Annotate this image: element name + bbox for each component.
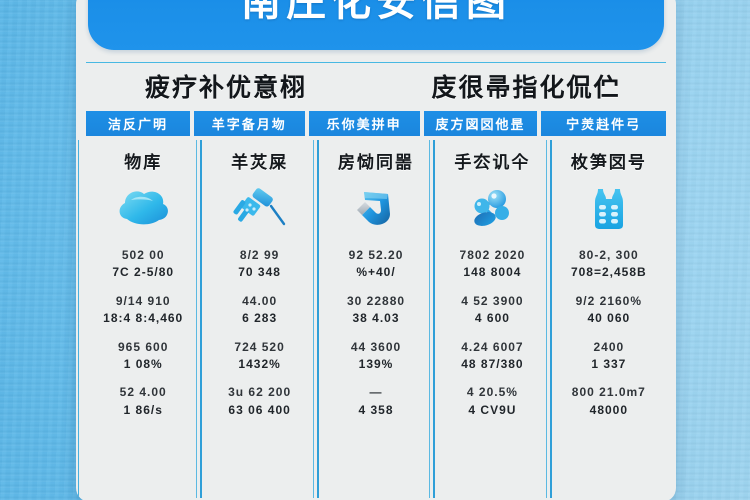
cloud-blob-icon bbox=[86, 179, 200, 237]
magnet-icon bbox=[319, 179, 433, 237]
data-row: 9/2 2160% 40 060 bbox=[552, 293, 666, 328]
row-line2: 708=2,458B bbox=[552, 264, 666, 281]
data-row: 80-2, 300 708=2,458B bbox=[552, 247, 666, 282]
tab-0[interactable]: 洁反广明 bbox=[86, 111, 190, 136]
tab-3[interactable]: 庋方図㘝他昰 bbox=[424, 111, 538, 136]
row-line1: 965 600 bbox=[86, 339, 200, 356]
column-3-heading: 手厺讥仐 bbox=[454, 148, 530, 173]
row-line2: 7C 2-5/80 bbox=[86, 264, 200, 281]
row-line1: 800 21.0m7 bbox=[552, 384, 666, 401]
column-2: 房恸同噐 bbox=[317, 140, 433, 498]
row-line2: 1 337 bbox=[552, 356, 666, 373]
row-line1: 52 4.00 bbox=[86, 384, 200, 401]
row-line2: 48 87/380 bbox=[435, 356, 549, 373]
data-row: 8/2 99 70 348 bbox=[202, 247, 316, 282]
row-line2: 70 348 bbox=[202, 264, 316, 281]
row-line1: 44.00 bbox=[202, 293, 316, 310]
column-1-rows: 8/2 99 70 348 44.00 6 283 724 520 1432% … bbox=[202, 247, 316, 430]
row-line1: 502 00 bbox=[86, 247, 200, 264]
section-title-right: 庋很帚指化侃伫 bbox=[376, 64, 676, 108]
content-columns: 物库 bbox=[86, 140, 666, 498]
data-row: 4 52 3900 4 600 bbox=[435, 293, 549, 328]
pill-blister-icon bbox=[552, 179, 666, 237]
data-row: 92 52.20 %+40/ bbox=[319, 247, 433, 282]
row-line1: 3u 62 200 bbox=[202, 384, 316, 401]
row-line2: 6 283 bbox=[202, 310, 316, 327]
data-row: 2400 1 337 bbox=[552, 339, 666, 374]
column-0-rows: 502 00 7C 2-5/80 9/14 910 18:4 8:4,460 9… bbox=[86, 247, 200, 430]
section-title-right-label: 庋很帚指化侃伫 bbox=[431, 68, 620, 104]
data-row: 965 600 1 08% bbox=[86, 339, 200, 374]
data-row: 3u 62 200 63 06 400 bbox=[202, 384, 316, 419]
data-row: 52 4.00 1 86/s bbox=[86, 384, 200, 419]
row-line1: 2400 bbox=[552, 339, 666, 356]
data-row: 800 21.0m7 48000 bbox=[552, 384, 666, 419]
syringe-icon bbox=[202, 179, 316, 237]
tab-2[interactable]: 乐你美拼申 bbox=[309, 111, 420, 136]
column-0-heading: 物库 bbox=[124, 148, 162, 173]
row-line1: 80-2, 300 bbox=[552, 247, 666, 264]
column-3-rows: 7802 2020 148 8004 4 52 3900 4 600 4.24 … bbox=[435, 247, 549, 430]
data-row: 30 22880 38 4.03 bbox=[319, 293, 433, 328]
molecule-icon bbox=[435, 179, 549, 237]
column-4-rows: 80-2, 300 708=2,458B 9/2 2160% 40 060 24… bbox=[552, 247, 666, 430]
section-title-left-label: 疲疗补优意栩 bbox=[145, 68, 307, 104]
tab-3-label: 庋方図㘝他昰 bbox=[435, 114, 525, 133]
section-title-row: 疲疗补优意栩 庋很帚指化侃伫 bbox=[76, 64, 676, 108]
row-line2: 139% bbox=[319, 356, 433, 373]
column-4: 枚笋㘝号 bbox=[550, 140, 666, 498]
row-line2: 148 8004 bbox=[435, 264, 549, 281]
row-line2: 1 86/s bbox=[86, 402, 200, 419]
row-line1: 30 22880 bbox=[319, 293, 433, 310]
row-line2: 18:4 8:4,460 bbox=[86, 310, 200, 327]
column-0: 物库 bbox=[86, 140, 200, 498]
column-1: 羊炗屎 bbox=[200, 140, 316, 498]
column-2-rows: 92 52.20 %+40/ 30 22880 38 4.03 44 3600 … bbox=[319, 247, 433, 430]
column-4-heading: 枚笋㘝号 bbox=[571, 148, 647, 173]
title-banner: 南庄化安信图 bbox=[88, 0, 664, 50]
tab-bar: 洁反广明 羊字备月圽 乐你美拼申 庋方図㘝他昰 宁羙𧺯件弓 bbox=[86, 111, 666, 136]
section-title-left: 疲疗补优意栩 bbox=[76, 64, 376, 108]
column-2-heading: 房恸同噐 bbox=[338, 148, 414, 173]
data-row: 44 3600 139% bbox=[319, 339, 433, 374]
tab-1[interactable]: 羊字备月圽 bbox=[194, 111, 305, 136]
row-line1: 4.24 6007 bbox=[435, 339, 549, 356]
row-line2: 1 08% bbox=[86, 356, 200, 373]
row-line2: 48000 bbox=[552, 402, 666, 419]
row-line1: 44 3600 bbox=[319, 339, 433, 356]
data-row: 502 00 7C 2-5/80 bbox=[86, 247, 200, 282]
row-line1: 4 52 3900 bbox=[435, 293, 549, 310]
infographic-card: 南庄化安信图 疲疗补优意栩 庋很帚指化侃伫 洁反广明 羊字备月圽 乐你美拼申 bbox=[76, 0, 676, 500]
row-line2: 40 060 bbox=[552, 310, 666, 327]
data-row: 9/14 910 18:4 8:4,460 bbox=[86, 293, 200, 328]
banner-title: 南庄化安信图 bbox=[241, 0, 511, 22]
row-line1: 724 520 bbox=[202, 339, 316, 356]
tab-2-label: 乐你美拼申 bbox=[327, 114, 402, 133]
row-line1: 92 52.20 bbox=[319, 247, 433, 264]
tab-4-label: 宁羙𧺯件弓 bbox=[566, 114, 641, 133]
row-line1: 9/14 910 bbox=[86, 293, 200, 310]
row-line1: 7802 2020 bbox=[435, 247, 549, 264]
page-background: 南庄化安信图 疲疗补优意栩 庋很帚指化侃伫 洁反广明 羊字备月圽 乐你美拼申 bbox=[0, 0, 750, 500]
column-1-heading: 羊炗屎 bbox=[231, 148, 288, 173]
data-row: — 4 358 bbox=[319, 384, 433, 419]
tab-0-label: 洁反广明 bbox=[108, 114, 168, 133]
tab-1-label: 羊字备月圽 bbox=[212, 114, 287, 133]
data-row: 724 520 1432% bbox=[202, 339, 316, 374]
row-line2: 4 600 bbox=[435, 310, 549, 327]
data-row: 7802 2020 148 8004 bbox=[435, 247, 549, 282]
row-line2: %+40/ bbox=[319, 264, 433, 281]
tab-4[interactable]: 宁羙𧺯件弓 bbox=[541, 111, 666, 136]
row-line1: 4 20.5% bbox=[435, 384, 549, 401]
row-line2: 63 06 400 bbox=[202, 402, 316, 419]
row-line1: — bbox=[319, 384, 433, 401]
data-row: 4.24 6007 48 87/380 bbox=[435, 339, 549, 374]
data-row: 44.00 6 283 bbox=[202, 293, 316, 328]
header-divider-rule bbox=[86, 62, 666, 63]
row-line1: 9/2 2160% bbox=[552, 293, 666, 310]
row-line1: 8/2 99 bbox=[202, 247, 316, 264]
row-line2: 4 358 bbox=[319, 402, 433, 419]
row-line2: 1432% bbox=[202, 356, 316, 373]
row-line2: 4 CV9U bbox=[435, 402, 549, 419]
row-line2: 38 4.03 bbox=[319, 310, 433, 327]
data-row: 4 20.5% 4 CV9U bbox=[435, 384, 549, 419]
column-3: 手厺讥仐 bbox=[433, 140, 549, 498]
